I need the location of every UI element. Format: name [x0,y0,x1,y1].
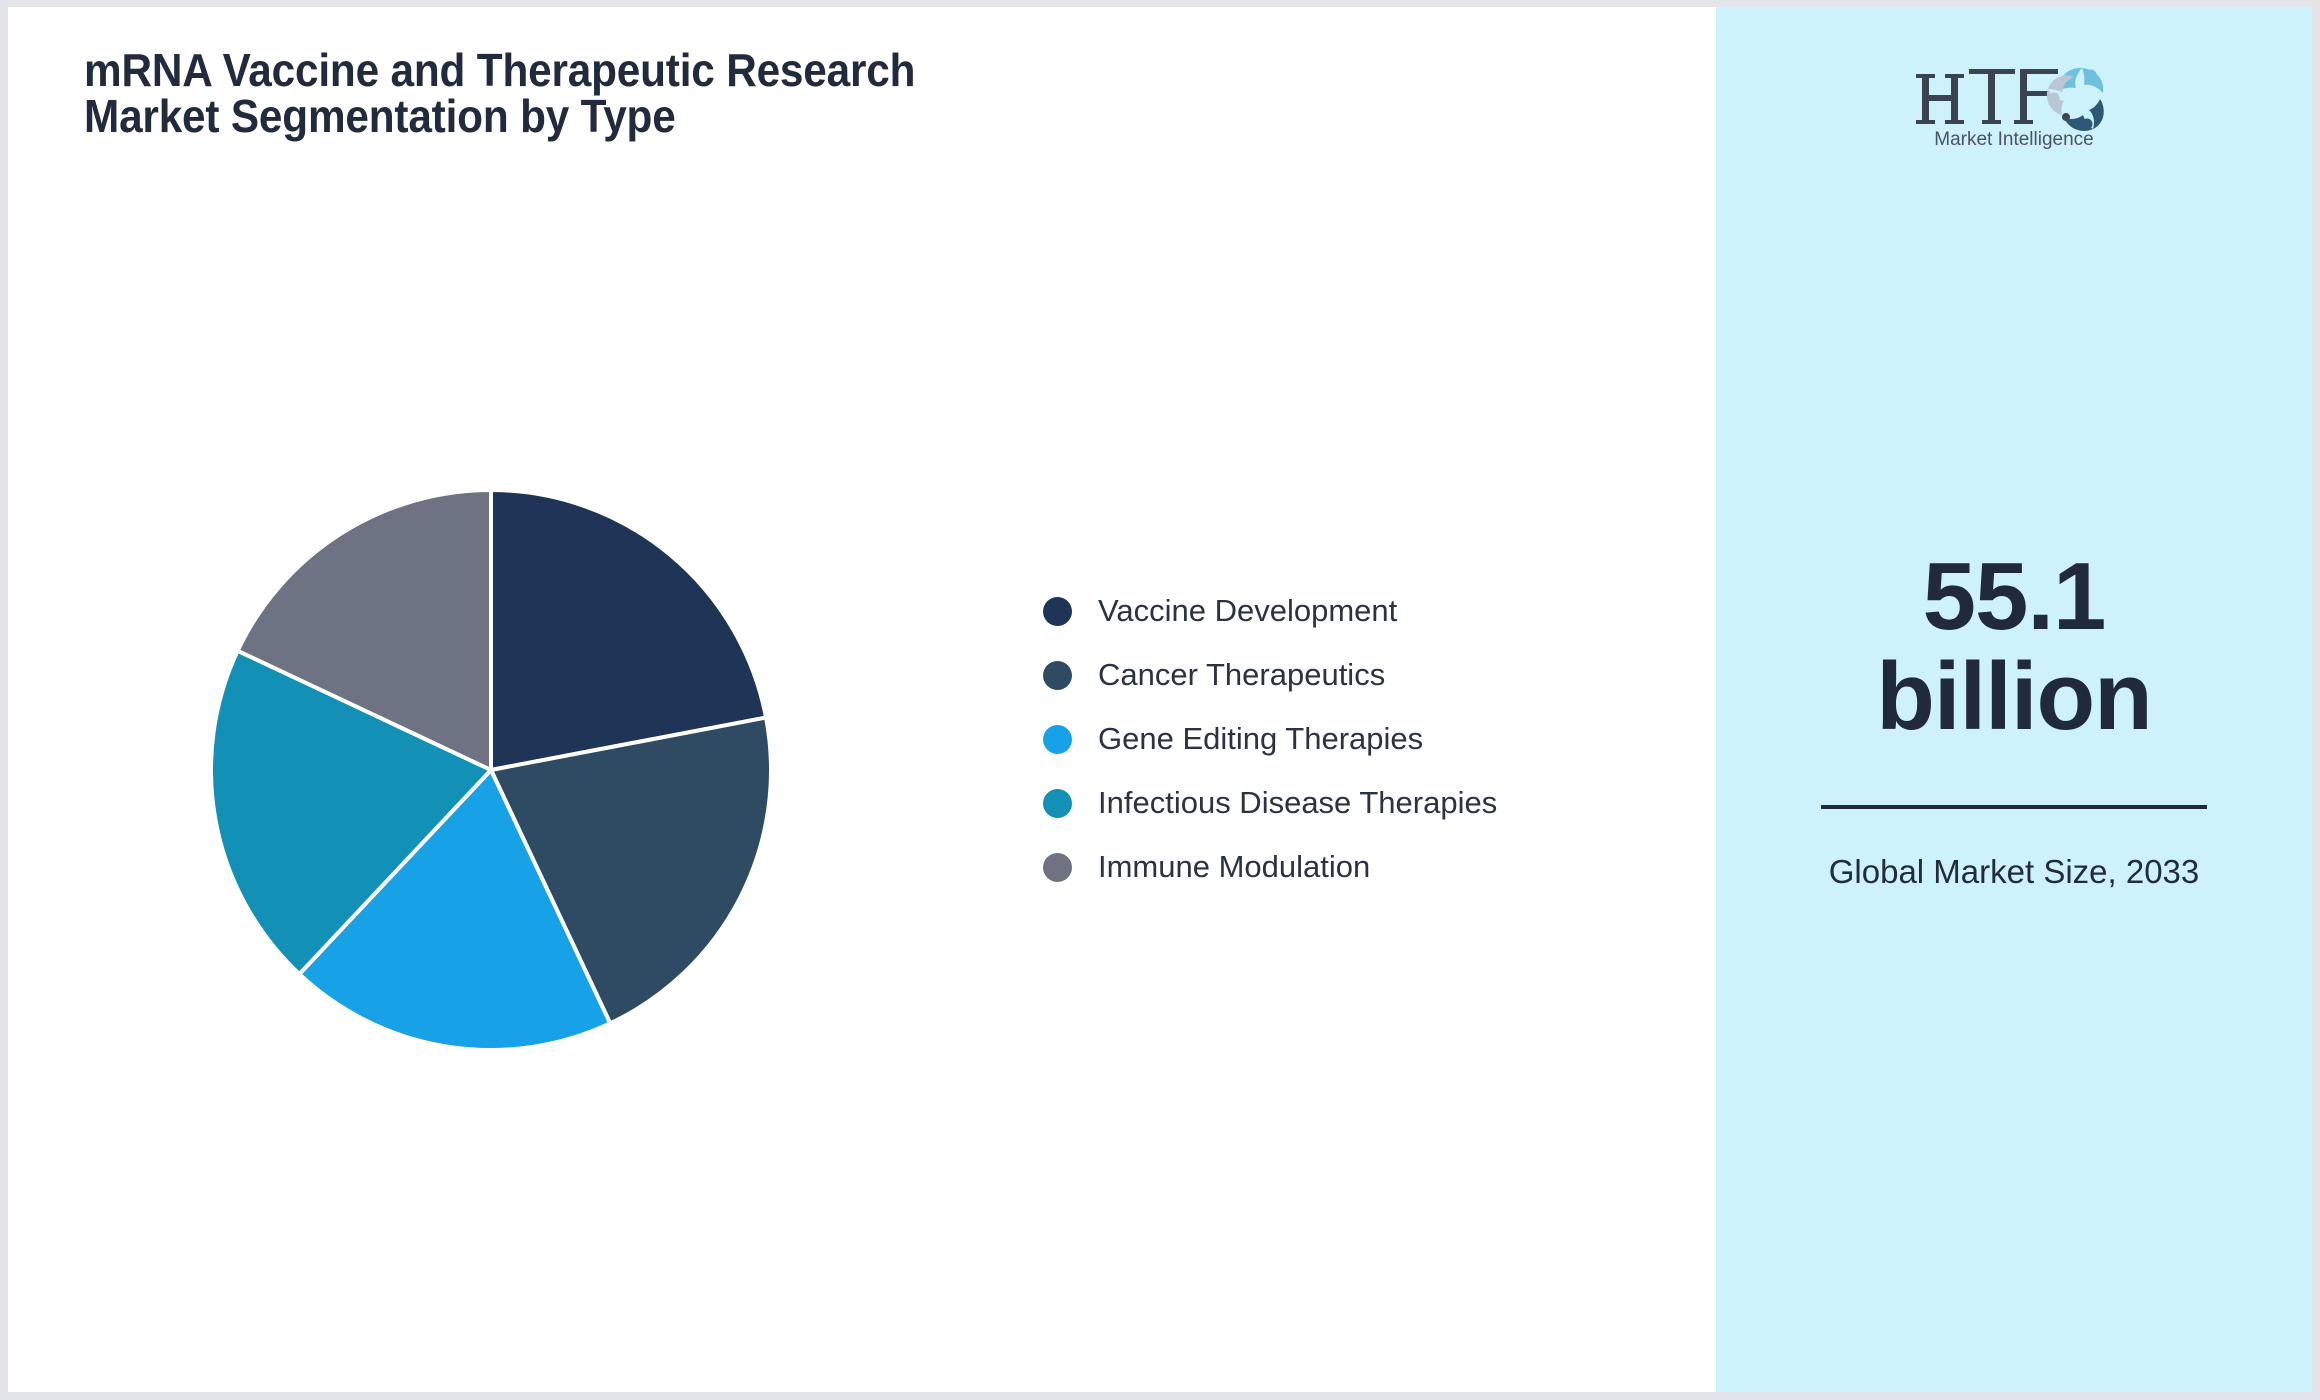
legend-item-label: Immune Modulation [1098,849,1370,885]
chart-pane: mRNA Vaccine and Therapeutic Research Ma… [8,7,1716,1392]
legend-item-label: Infectious Disease Therapies [1098,785,1497,821]
stat-divider [1821,805,2207,809]
legend-swatch-icon [1043,661,1072,690]
stat-pane: Market Intelligence 55.1 billion Global … [1716,7,2312,1392]
pie-chart [208,487,774,1053]
infographic-card: mRNA Vaccine and Therapeutic Research Ma… [8,7,2312,1392]
pie-chart-svg [208,487,774,1053]
logo-tagline: Market Intelligence [1914,129,2114,151]
htf-logo-icon [1914,55,2114,133]
stat-caption: Global Market Size, 2033 [1799,849,2229,896]
legend-item-label: Gene Editing Therapies [1098,721,1423,757]
legend-item[interactable]: Cancer Therapeutics [1043,657,1497,693]
legend-item[interactable]: Immune Modulation [1043,849,1497,885]
legend-item[interactable]: Infectious Disease Therapies [1043,785,1497,821]
brand-logo: Market Intelligence [1716,55,2312,163]
chart-legend: Vaccine DevelopmentCancer TherapeuticsGe… [1043,593,1497,885]
legend-swatch-icon [1043,597,1072,626]
legend-item-label: Cancer Therapeutics [1098,657,1385,693]
legend-item-label: Vaccine Development [1098,593,1397,629]
stat-block: 55.1 billion Global Market Size, 2033 [1799,547,2229,896]
stat-value: 55.1 billion [1799,547,2229,747]
legend-item[interactable]: Vaccine Development [1043,593,1497,629]
legend-swatch-icon [1043,725,1072,754]
legend-item[interactable]: Gene Editing Therapies [1043,721,1497,757]
legend-swatch-icon [1043,789,1072,818]
legend-swatch-icon [1043,853,1072,882]
page-title: mRNA Vaccine and Therapeutic Research Ma… [84,47,967,139]
